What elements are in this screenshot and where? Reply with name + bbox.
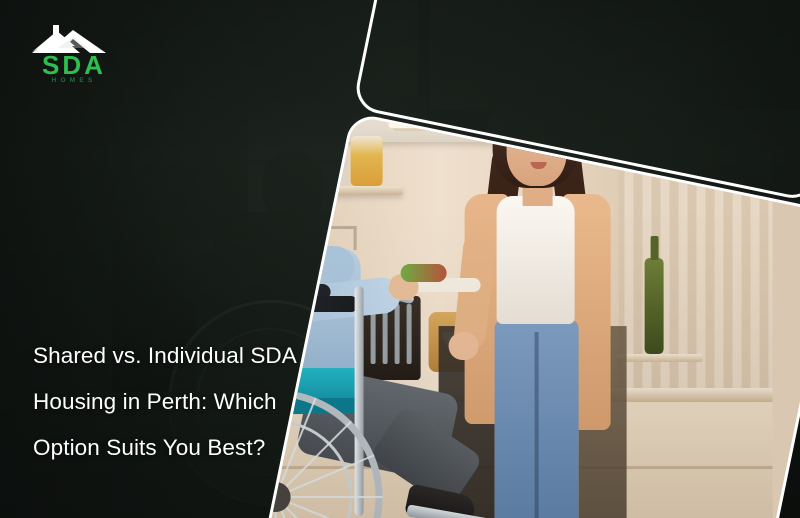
photo-man-neck bbox=[281, 234, 311, 258]
photo-cup-three bbox=[289, 252, 317, 276]
photo-wheelchair-armrest bbox=[257, 296, 358, 312]
photo-woman-top bbox=[497, 196, 575, 324]
photo-wine-shelf bbox=[617, 354, 703, 362]
photo-man-head bbox=[263, 164, 327, 240]
photo-coffee-machine bbox=[257, 316, 292, 382]
photo-container-white bbox=[295, 144, 323, 186]
photo-man-ear bbox=[257, 194, 268, 212]
photo-cereal-jar bbox=[351, 136, 383, 186]
photo-man-beard bbox=[267, 202, 325, 242]
photo-cup-rack bbox=[257, 226, 356, 229]
photo-woman-hand bbox=[449, 332, 479, 360]
photo-wine-bottle bbox=[645, 258, 664, 354]
diagonal-frames bbox=[0, 0, 800, 518]
photo-man-hair bbox=[259, 156, 331, 196]
photo-food bbox=[401, 264, 447, 282]
photo-container-beige bbox=[327, 140, 349, 186]
photo-cup-two bbox=[257, 246, 282, 274]
photo-bowl-teal bbox=[257, 156, 286, 186]
photo-cup-rack-right bbox=[354, 226, 357, 250]
photo-man-hoodie-collar bbox=[257, 246, 354, 286]
photo-wheel-hub bbox=[261, 482, 291, 512]
banner-canvas: SDA HOMES Shared vs. Individual SDA Hous… bbox=[0, 0, 800, 518]
photo-shelf-upper bbox=[257, 186, 402, 195]
photo-woman-jeans-seam bbox=[535, 332, 539, 518]
